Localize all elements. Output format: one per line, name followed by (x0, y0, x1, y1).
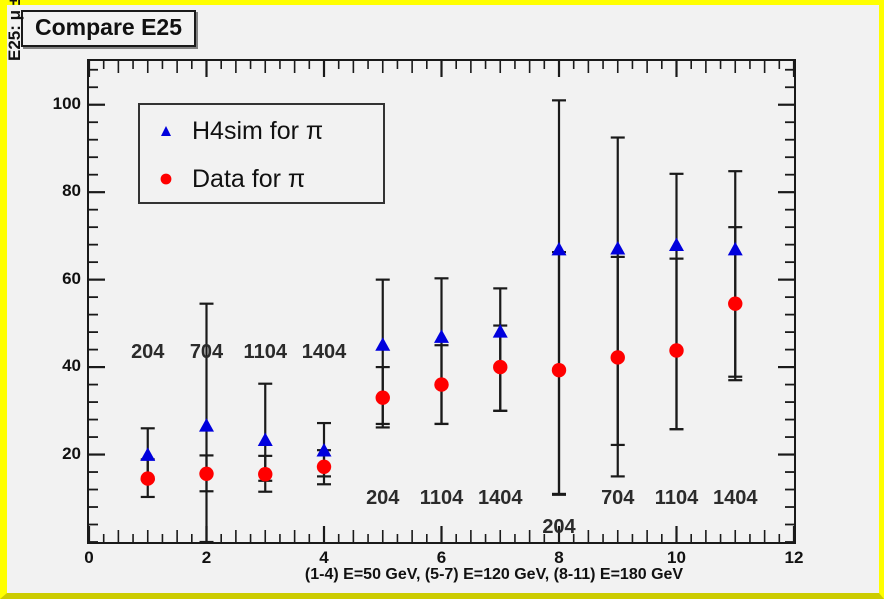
y-axis-title-text: E25: μ ± σ (5, 0, 25, 61)
y-tick-label: 20 (33, 444, 81, 464)
triangle-marker (199, 418, 214, 432)
x-tick-label: 0 (64, 548, 114, 568)
circle-marker (376, 391, 390, 405)
circle-marker (669, 343, 683, 357)
legend-item-h4sim: H4sim for π (140, 109, 383, 153)
point-annotation: 204 (352, 487, 414, 510)
legend-label-h4sim: H4sim for π (192, 117, 323, 146)
circle-marker (199, 467, 213, 481)
point-annotation: 1104 (234, 341, 296, 364)
title-text: Compare E25 (35, 14, 182, 40)
point-annotation: 1404 (469, 487, 531, 510)
x-tick-label: 2 (182, 548, 232, 568)
y-tick-label: 40 (33, 356, 81, 376)
point-annotation: 1404 (704, 487, 766, 510)
triangle-marker (140, 447, 155, 461)
triangle-marker-icon (140, 123, 192, 139)
y-axis-title: E25: μ ± σ (5, 0, 25, 61)
x-tick-label: 6 (417, 548, 467, 568)
point-annotation: 204 (528, 516, 590, 539)
title-box: Compare E25 (21, 10, 196, 47)
triangle-marker (375, 337, 390, 351)
circle-marker-icon (140, 171, 192, 187)
legend: H4sim for π Data for π (138, 103, 385, 204)
circle-marker (552, 363, 566, 377)
circle-marker (728, 296, 742, 310)
triangle-marker (258, 433, 273, 447)
circle-marker (317, 460, 331, 474)
x-axis-title-text: (1-4) E=50 GeV, (5-7) E=120 GeV, (8-11) … (305, 566, 683, 583)
point-annotation: 1104 (411, 487, 473, 510)
y-tick-label: 80 (33, 181, 81, 201)
x-tick-label: 10 (652, 548, 702, 568)
point-annotation: 1404 (293, 341, 355, 364)
circle-marker (493, 360, 507, 374)
triangle-marker (434, 329, 449, 343)
legend-item-data: Data for π (140, 157, 383, 201)
y-tick-label: 60 (33, 269, 81, 289)
y-tick-label: 100 (33, 94, 81, 114)
plot-canvas: Compare E25 E25: μ ± σ (1-4) E=50 GeV, (… (0, 0, 884, 599)
x-tick-label: 8 (534, 548, 584, 568)
point-annotation: 704 (587, 487, 649, 510)
triangle-marker (728, 242, 743, 256)
triangle-marker (669, 238, 684, 252)
circle-marker (258, 467, 272, 481)
triangle-marker (552, 242, 567, 256)
x-tick-label: 12 (769, 548, 819, 568)
x-axis-title: (1-4) E=50 GeV, (5-7) E=120 GeV, (8-11) … (7, 566, 884, 584)
point-annotation: 204 (117, 341, 179, 364)
circle-marker (434, 377, 448, 391)
point-annotation: 704 (176, 341, 238, 364)
x-tick-label: 4 (299, 548, 349, 568)
circle-marker (141, 471, 155, 485)
legend-label-data: Data for π (192, 165, 305, 194)
circle-marker (611, 350, 625, 364)
point-annotation: 1104 (646, 487, 708, 510)
triangle-marker (610, 241, 625, 255)
